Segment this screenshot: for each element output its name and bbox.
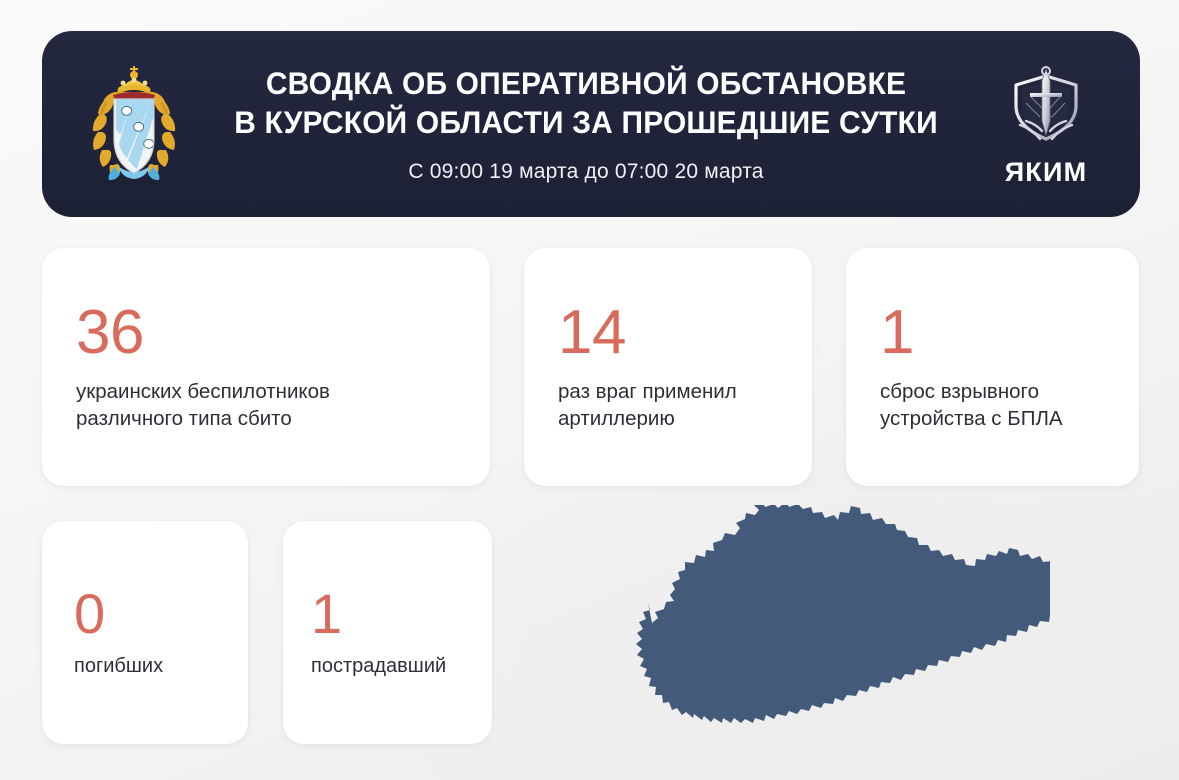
stat-card-drops: 1 сброс взрывного устройства с БПЛА <box>846 248 1139 486</box>
header-banner: СВОДКА ОБ ОПЕРАТИВНОЙ ОБСТАНОВКЕ В КУРСК… <box>42 31 1140 217</box>
stat-label: раз враг применил артиллерию <box>558 378 778 432</box>
stat-value: 36 <box>76 302 456 364</box>
kursk-oblast-map-icon <box>630 505 1050 740</box>
stat-label: сброс взрывного устройства с БПЛА <box>880 378 1105 432</box>
stat-label: пострадавший <box>311 653 464 679</box>
shield-sword-icon <box>1000 63 1092 155</box>
kursk-coat-of-arms-icon <box>82 62 186 186</box>
brand-wordmark: ЯКИМ <box>1005 159 1088 186</box>
stat-card-artillery: 14 раз враг применил артиллерию <box>524 248 812 486</box>
stat-value: 0 <box>74 586 216 642</box>
time-range-subtitle: С 09:00 19 марта до 07:00 20 марта <box>196 159 976 184</box>
stat-label: украинских беспилотников различного типа… <box>76 378 456 432</box>
stat-card-killed: 0 погибших <box>42 521 248 744</box>
stat-value: 1 <box>880 302 1105 364</box>
header-text-block: СВОДКА ОБ ОПЕРАТИВНОЙ ОБСТАНОВКЕ В КУРСК… <box>186 64 986 184</box>
stat-card-drones: 36 украинских беспилотников различного т… <box>42 248 490 486</box>
stat-label: погибших <box>74 653 216 679</box>
stat-value: 14 <box>558 302 778 364</box>
page-title: СВОДКА ОБ ОПЕРАТИВНОЙ ОБСТАНОВКЕ В КУРСК… <box>216 64 957 141</box>
stat-card-injured: 1 пострадавший <box>283 521 492 744</box>
infographic-page: СВОДКА ОБ ОПЕРАТИВНОЙ ОБСТАНОВКЕ В КУРСК… <box>0 0 1179 780</box>
stat-value: 1 <box>311 586 464 642</box>
brand-block: ЯКИМ <box>986 63 1106 186</box>
